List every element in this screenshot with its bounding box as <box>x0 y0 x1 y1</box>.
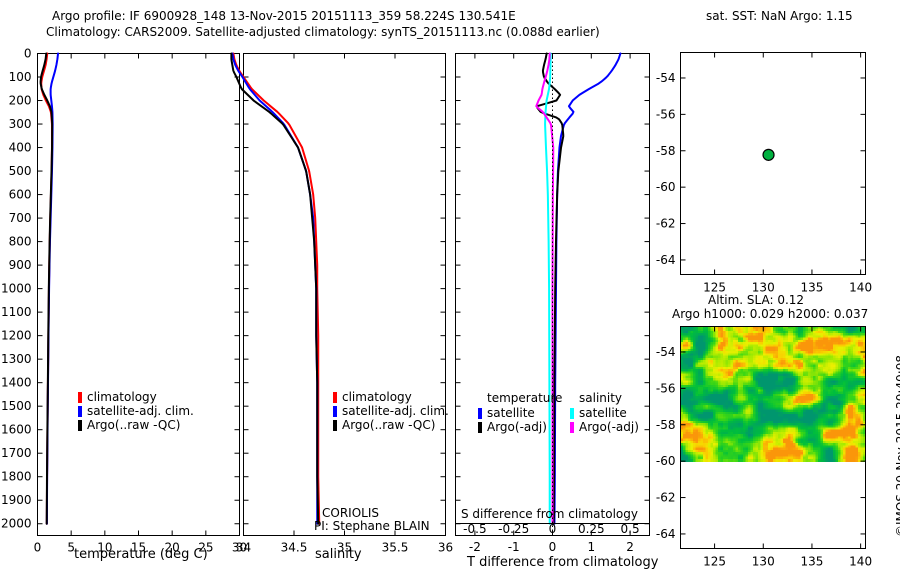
legend-heading-temperature: temperature <box>487 392 562 406</box>
difference-top-tick-label: 0.5 <box>621 523 640 536</box>
temperature-plot-svg: 0100200300400500600700800900100011001200… <box>0 40 245 540</box>
altimetry-y-tick-label: -60 <box>656 454 676 468</box>
altimetry-y-tick-label: -56 <box>656 381 676 395</box>
map-x-tick-label: 140 <box>849 281 872 295</box>
difference-bottom-tick-label: -2 <box>469 541 481 554</box>
y-tick-label: 1700 <box>1 446 32 460</box>
legend-label-salinity-argo-adj: Argo(-adj) <box>579 421 639 433</box>
difference-bottom-tick-label: 2 <box>626 541 634 554</box>
legend-item-climatology-salinity: climatology <box>333 390 449 404</box>
difference-top-tick-label: 0 <box>549 523 557 536</box>
legend-swatch-climatology <box>78 392 82 403</box>
altimetry-y-tick-label: -58 <box>656 418 676 432</box>
legend-item-argo-raw-salinity: Argo(..raw -QC) <box>333 418 449 432</box>
altimetry-svg: -54-56-58-60-62-64 125130135140 <box>660 322 900 580</box>
legend-swatch-argo-raw <box>78 420 82 431</box>
altimetry-y-tick-label: -64 <box>656 527 676 541</box>
altimetry-x-tick-label: 130 <box>752 555 775 569</box>
imos-credit: ©IMOS 20-Nov-2015 20:40:08 <box>894 355 900 537</box>
y-tick-label: 1000 <box>1 282 32 296</box>
map-y-tick-label: -60 <box>656 180 676 194</box>
map-y-tick-label: -54 <box>656 71 676 85</box>
difference-bottom-tick-label: 0 <box>549 541 557 554</box>
legend-label-climatology-salinity: climatology <box>342 391 412 403</box>
argo-float-marker <box>763 149 774 160</box>
altimetry-title-line-2: Argo h1000: 0.029 h2000: 0.037 <box>672 308 868 321</box>
difference-top-tick-label: 0.25 <box>578 523 605 536</box>
legend-label-temperature-satellite: satellite <box>487 407 535 419</box>
legend-label-argo-raw: Argo(..raw -QC) <box>87 419 180 431</box>
altimetry-x-tick-label: 125 <box>703 555 726 569</box>
x-tick-label: 36 <box>438 541 453 555</box>
difference-top-tick-label: -0.5 <box>463 523 486 536</box>
legend-item-satellite-adj-salinity: satellite-adj. clim. <box>333 404 449 418</box>
legend-item-argo-raw: Argo(..raw -QC) <box>78 418 194 432</box>
y-tick-label: 1600 <box>1 423 32 437</box>
y-tick-label: 1800 <box>1 470 32 484</box>
x-tick-label: 34 <box>236 541 251 555</box>
altimetry-y-tick-label: -62 <box>656 491 676 505</box>
legend-label-argo-raw-salinity: Argo(..raw -QC) <box>342 419 435 431</box>
map-title: sat. SST: NaN Argo: 1.15 <box>706 10 853 23</box>
temperature-xlabel: temperature (deg C) <box>74 548 208 562</box>
y-tick-label: 900 <box>9 258 32 272</box>
header-line-2: Climatology: CARS2009. Satellite-adjuste… <box>46 26 600 39</box>
legend-label-satellite-adj: satellite-adj. clim. <box>87 405 194 417</box>
legend-label-satellite-adj-salinity: satellite-adj. clim. <box>342 405 449 417</box>
y-tick-label: 300 <box>9 117 32 131</box>
legend-label-temperature-argo-adj: Argo(-adj) <box>487 421 547 433</box>
map-y-tick-label: -56 <box>656 107 676 121</box>
legend-swatch-temperature-argo-adj <box>478 422 482 433</box>
legend-item-salinity-argo-adj: Argo(-adj) <box>570 420 639 434</box>
legend-swatch-satellite-adj-salinity <box>333 406 337 417</box>
legend-swatch-salinity-argo-adj <box>570 422 574 433</box>
y-tick-label: 100 <box>9 70 32 84</box>
difference-top-tick-label: -0.25 <box>498 523 529 536</box>
y-tick-label: 200 <box>9 94 32 108</box>
y-tick-label: 500 <box>9 164 32 178</box>
difference-bottom-tick-label: -1 <box>508 541 520 554</box>
header-line-1: Argo profile: IF 6900928_148 13-Nov-2015… <box>52 10 516 23</box>
temperature-legend: climatology satellite-adj. clim. Argo(..… <box>78 390 194 432</box>
principal-investigator-label: PI: Stephane BLAIN <box>314 520 430 533</box>
altimetry-x-tick-label: 140 <box>849 555 872 569</box>
legend-item-temperature-satellite: satellite <box>478 406 562 420</box>
y-tick-label: 600 <box>9 188 32 202</box>
legend-swatch-salinity-satellite <box>570 408 574 419</box>
y-tick-label: 1500 <box>1 399 32 413</box>
y-tick-label: 1300 <box>1 352 32 366</box>
salinity-plot-svg: 3434.53535.536 <box>243 40 453 540</box>
y-tick-label: 800 <box>9 235 32 249</box>
altimetry-title-line-1: Altim. SLA: 0.12 <box>708 294 804 307</box>
x-tick-label: 35.5 <box>382 541 409 555</box>
y-tick-label: 1400 <box>1 376 32 390</box>
map-y-tick-label: -64 <box>656 253 676 267</box>
y-tick-label: 2000 <box>1 517 32 531</box>
figure-root: Argo profile: IF 6900928_148 13-Nov-2015… <box>0 0 900 580</box>
legend-item-temperature-argo-adj: Argo(-adj) <box>478 420 562 434</box>
y-tick-label: 700 <box>9 211 32 225</box>
difference-plot-svg <box>455 40 655 540</box>
legend-swatch-argo-raw-salinity <box>333 420 337 431</box>
salinity-legend: climatology satellite-adj. clim. Argo(..… <box>333 390 449 432</box>
legend-label-salinity-satellite: satellite <box>579 407 627 419</box>
legend-swatch-climatology-salinity <box>333 392 337 403</box>
map-svg: -54-56-58-60-62-64 125130135140 <box>660 26 900 291</box>
x-tick-label: 34.5 <box>281 541 308 555</box>
legend-label-climatology: climatology <box>87 391 157 403</box>
y-tick-label: 0 <box>24 47 32 61</box>
map-y-tick-label: -58 <box>656 144 676 158</box>
difference-xlabel-top: S difference from climatology <box>461 508 638 521</box>
difference-legend-temperature: temperature satellite Argo(-adj) <box>478 392 562 434</box>
legend-item-salinity-satellite: satellite <box>570 406 639 420</box>
salinity-xlabel: salinity <box>315 548 362 562</box>
difference-legend-salinity: salinity satellite Argo(-adj) <box>570 392 639 434</box>
y-tick-label: 1200 <box>1 329 32 343</box>
map-y-tick-label: -62 <box>656 217 676 231</box>
y-tick-label: 400 <box>9 141 32 155</box>
altimetry-y-tick-label: -54 <box>656 345 676 359</box>
legend-heading-salinity: salinity <box>579 392 639 406</box>
x-tick-label: 0 <box>34 541 42 555</box>
difference-xlabel-bottom: T difference from climatology <box>467 556 658 570</box>
legend-swatch-satellite-adj <box>78 406 82 417</box>
difference-bottom-tick-label: 1 <box>587 541 595 554</box>
y-tick-label: 1900 <box>1 493 32 507</box>
legend-swatch-temperature-satellite <box>478 408 482 419</box>
altimetry-x-tick-label: 135 <box>800 555 823 569</box>
legend-item-satellite-adj: satellite-adj. clim. <box>78 404 194 418</box>
legend-item-climatology: climatology <box>78 390 194 404</box>
y-tick-label: 1100 <box>1 305 32 319</box>
